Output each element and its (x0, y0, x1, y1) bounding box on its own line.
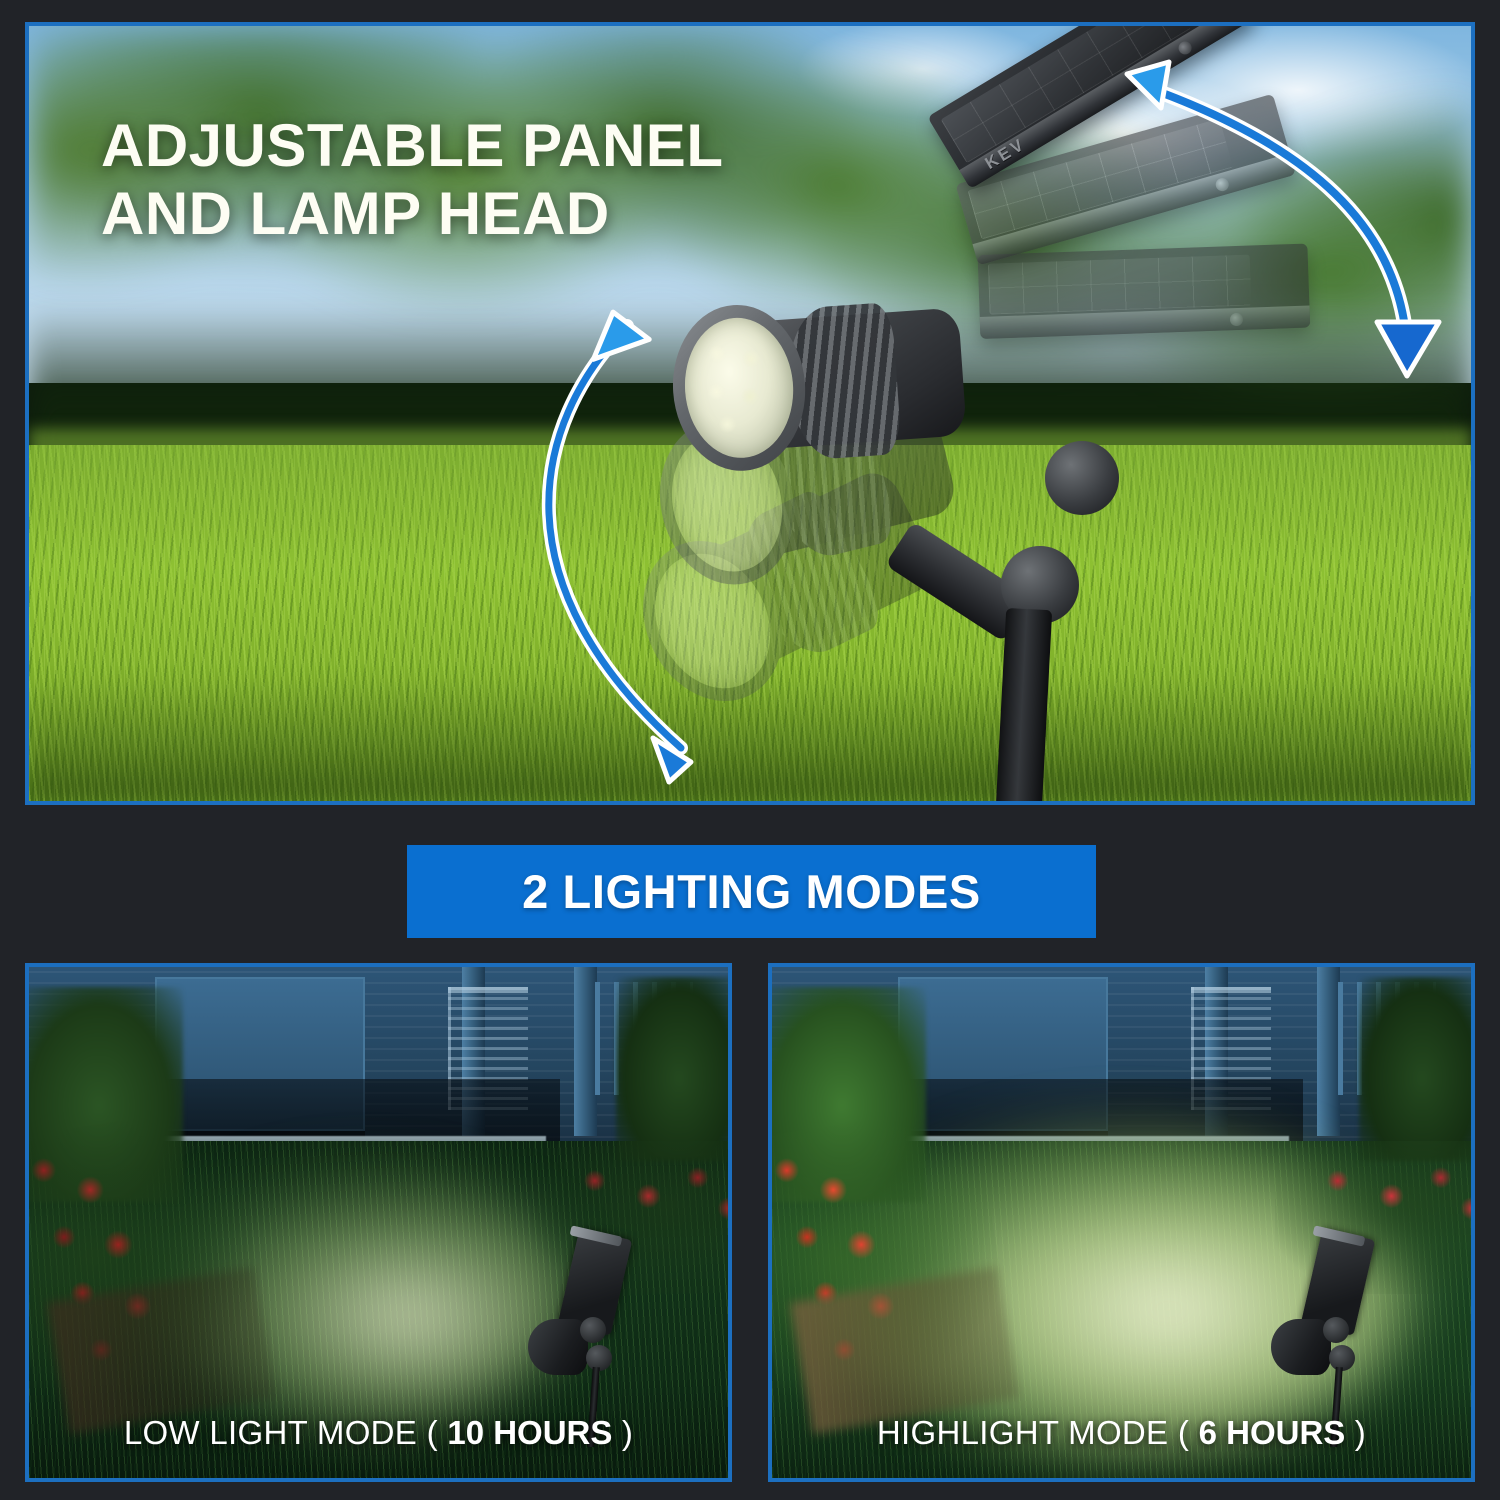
lamp-head (667, 289, 978, 480)
mode-panel-low-light: LOW LIGHT MODE ( 10 HOURS ) (25, 963, 732, 1482)
fixture-joint-upper (580, 1317, 606, 1343)
shrub-right (1359, 977, 1471, 1161)
caption-prefix: HIGHLIGHT MODE (877, 1414, 1168, 1451)
page-title: ADJUSTABLE PANEL AND LAMP HEAD (101, 112, 723, 249)
lighting-modes-banner: 2 LIGHTING MODES (407, 845, 1096, 938)
banner-label: 2 LIGHTING MODES (522, 864, 981, 919)
product-solar-spotlight: KEV (649, 291, 1119, 805)
panel-ball-joint (1045, 441, 1119, 515)
caption-close-paren: ) (1355, 1414, 1366, 1451)
fixture-joint-upper (1323, 1317, 1349, 1343)
mode-caption-highlight: HIGHLIGHT MODE ( 6 HOURS ) (772, 1414, 1471, 1452)
mode-caption-low-light: LOW LIGHT MODE ( 10 HOURS ) (29, 1414, 728, 1452)
caption-open-paren: ( (427, 1414, 438, 1451)
porch-post-right (574, 967, 596, 1136)
shrub-right (616, 977, 728, 1161)
mode-panel-highlight: HIGHLIGHT MODE ( 6 HOURS ) (768, 963, 1475, 1482)
flower-bed-right (532, 1141, 728, 1294)
solar-panel-ghost-low (978, 244, 1311, 339)
flower-bed-right (1275, 1141, 1471, 1294)
caption-hours: 10 HOURS (447, 1414, 612, 1451)
caption-open-paren: ( (1178, 1414, 1189, 1451)
night-scene-high (772, 967, 1471, 1478)
caption-close-paren: ) (622, 1414, 633, 1451)
ground-stake (996, 608, 1052, 805)
caption-prefix: LOW LIGHT MODE (124, 1414, 417, 1451)
caption-hours: 6 HOURS (1199, 1414, 1346, 1451)
porch-post-right (1317, 967, 1339, 1136)
fixture-lamp-head (1271, 1319, 1331, 1375)
fixture-lamp-head (528, 1319, 588, 1375)
hero-photo-panel: ADJUSTABLE PANEL AND LAMP HEAD (25, 22, 1475, 805)
night-scene-low (29, 967, 728, 1478)
